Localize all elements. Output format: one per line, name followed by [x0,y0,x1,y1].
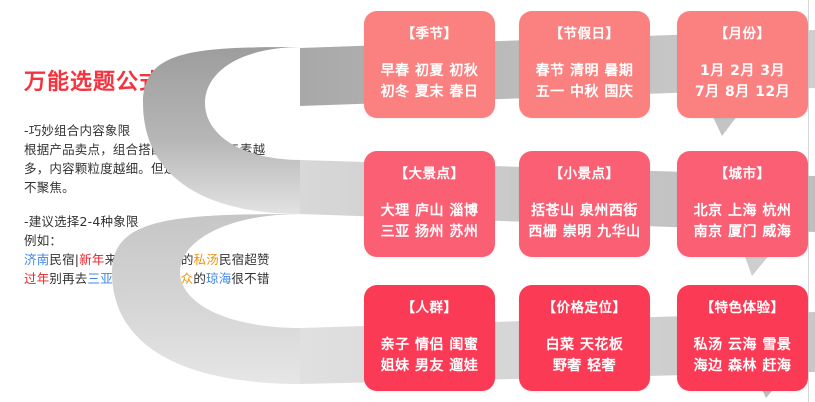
suggestion-line: -建议选择2-4种象限 [24,212,314,231]
description-line-0: -巧妙组合内容象限 [24,121,314,140]
example-segment-0-5: 里的 [168,252,193,267]
card-line-2: 五一 中秋 国庆 [525,82,644,103]
card-title: 【季节】 [370,25,489,43]
page-right-border [808,0,809,402]
card-title: 【节假日】 [525,25,644,43]
quadrant-card-audience[interactable]: 【人群】 亲子 情侣 闺蜜 姐妹 男友 遛娃 [364,285,495,391]
card-line-1: 大理 庐山 淄博 [370,201,489,222]
quadrant-card-major-attraction[interactable]: 【大景点】 大理 庐山 淄博 三亚 扬州 苏州 [364,151,495,257]
card-title: 【城市】 [683,165,802,183]
example-segment-1-0: 过年 [24,271,49,286]
card-title: 【价格定位】 [525,299,644,317]
card-line-1: 早春 初夏 初秋 [370,61,489,82]
card-line-1: 1月 2月 3月 [683,61,802,82]
example-segment-1-2: 三亚 [88,271,113,286]
card-line-2: 三亚 扬州 苏州 [370,222,489,243]
card-line-2: 野奢 轻奢 [525,356,644,377]
example-segment-1-5: 的 [193,271,206,286]
example-segment-1-1: 别再去 [49,271,87,286]
left-text-panel: 万能选题公式 -巧妙组合内容象限 根据产品卖点，组合搭配选题元素。元素越 多，内… [24,70,314,288]
example-segment-0-0: 济南 [24,252,49,267]
page-title: 万能选题公式 [24,70,314,95]
description-line-2: 多，内容颗粒度越细。但过多又会导致内容 [24,159,314,178]
example-segment-0-2: 新年 [79,252,104,267]
card-line-2: 姐妹 男友 遛娃 [370,356,489,377]
card-line-1: 白菜 天花板 [525,335,644,356]
card-line-1: 北京 上海 杭州 [683,201,802,222]
description-block: -巧妙组合内容象限 根据产品卖点，组合搭配选题元素。元素越 多，内容颗粒度越细。… [24,121,314,288]
card-line-2: 南京 厦门 威海 [683,222,802,243]
quadrant-card-grid: 【季节】 早春 初夏 初秋 初冬 夏末 春日 【节假日】 春节 清明 暑期 五一… [364,11,808,393]
example-label: 例如： [24,231,314,250]
example-segment-1-4: 小众 [168,271,193,286]
example-segment-0-3: 来这家 [105,252,143,267]
card-title: 【月份】 [683,25,802,43]
example-segment-1-7: 很不错 [231,271,269,286]
card-title: 【小景点】 [525,165,644,183]
card-line-1: 私汤 云海 雪景 [683,335,802,356]
quadrant-card-month[interactable]: 【月份】 1月 2月 3月 7月 8月 12月 [677,11,808,118]
quadrant-card-minor-attraction[interactable]: 【小景点】 括苍山 泉州西街 西栅 崇明 九华山 [519,151,650,257]
quadrant-card-price-tier[interactable]: 【价格定位】 白菜 天花板 野奢 轻奢 [519,285,650,391]
card-line-1: 亲子 情侣 闺蜜 [370,335,489,356]
card-line-2: 7月 8月 12月 [683,82,802,103]
description-line-1: 根据产品卖点，组合搭配选题元素。元素越 [24,140,314,159]
example-line-1: 济南民宿|新年来这家森林里的私汤民宿超赞 [24,250,314,269]
card-title: 【人群】 [370,299,489,317]
card-line-2: 海边 森林 赶海 [683,356,802,377]
quadrant-card-season[interactable]: 【季节】 早春 初夏 初秋 初冬 夏末 春日 [364,11,495,118]
card-line-2: 初冬 夏末 春日 [370,82,489,103]
card-line-1: 春节 清明 暑期 [525,61,644,82]
example-segment-0-6: 私汤 [194,252,219,267]
card-title: 【特色体验】 [683,299,802,317]
paragraph-spacer [24,197,314,212]
description-line-3: 不聚焦。 [24,178,314,197]
quadrant-card-holiday[interactable]: 【节假日】 春节 清明 暑期 五一 中秋 国庆 [519,11,650,118]
example-segment-0-7: 民宿超赞 [219,252,270,267]
example-line-2: 过年别再去三亚人挤人！ 小众的琼海很不错 [24,269,314,288]
slide-canvas: 万能选题公式 -巧妙组合内容象限 根据产品卖点，组合搭配选题元素。元素越 多，内… [0,0,815,402]
example-segment-0-1: 民宿| [49,252,79,267]
example-segment-0-4: 森林 [143,252,168,267]
quadrant-card-city[interactable]: 【城市】 北京 上海 杭州 南京 厦门 威海 [677,151,808,257]
card-line-1: 括苍山 泉州西街 [525,201,644,222]
card-line-2: 西栅 崇明 九华山 [525,222,644,243]
example-segment-1-6: 琼海 [206,271,231,286]
quadrant-card-signature-experience[interactable]: 【特色体验】 私汤 云海 雪景 海边 森林 赶海 [677,285,808,391]
example-segment-1-3: 人挤人！ [113,271,168,286]
card-title: 【大景点】 [370,165,489,183]
